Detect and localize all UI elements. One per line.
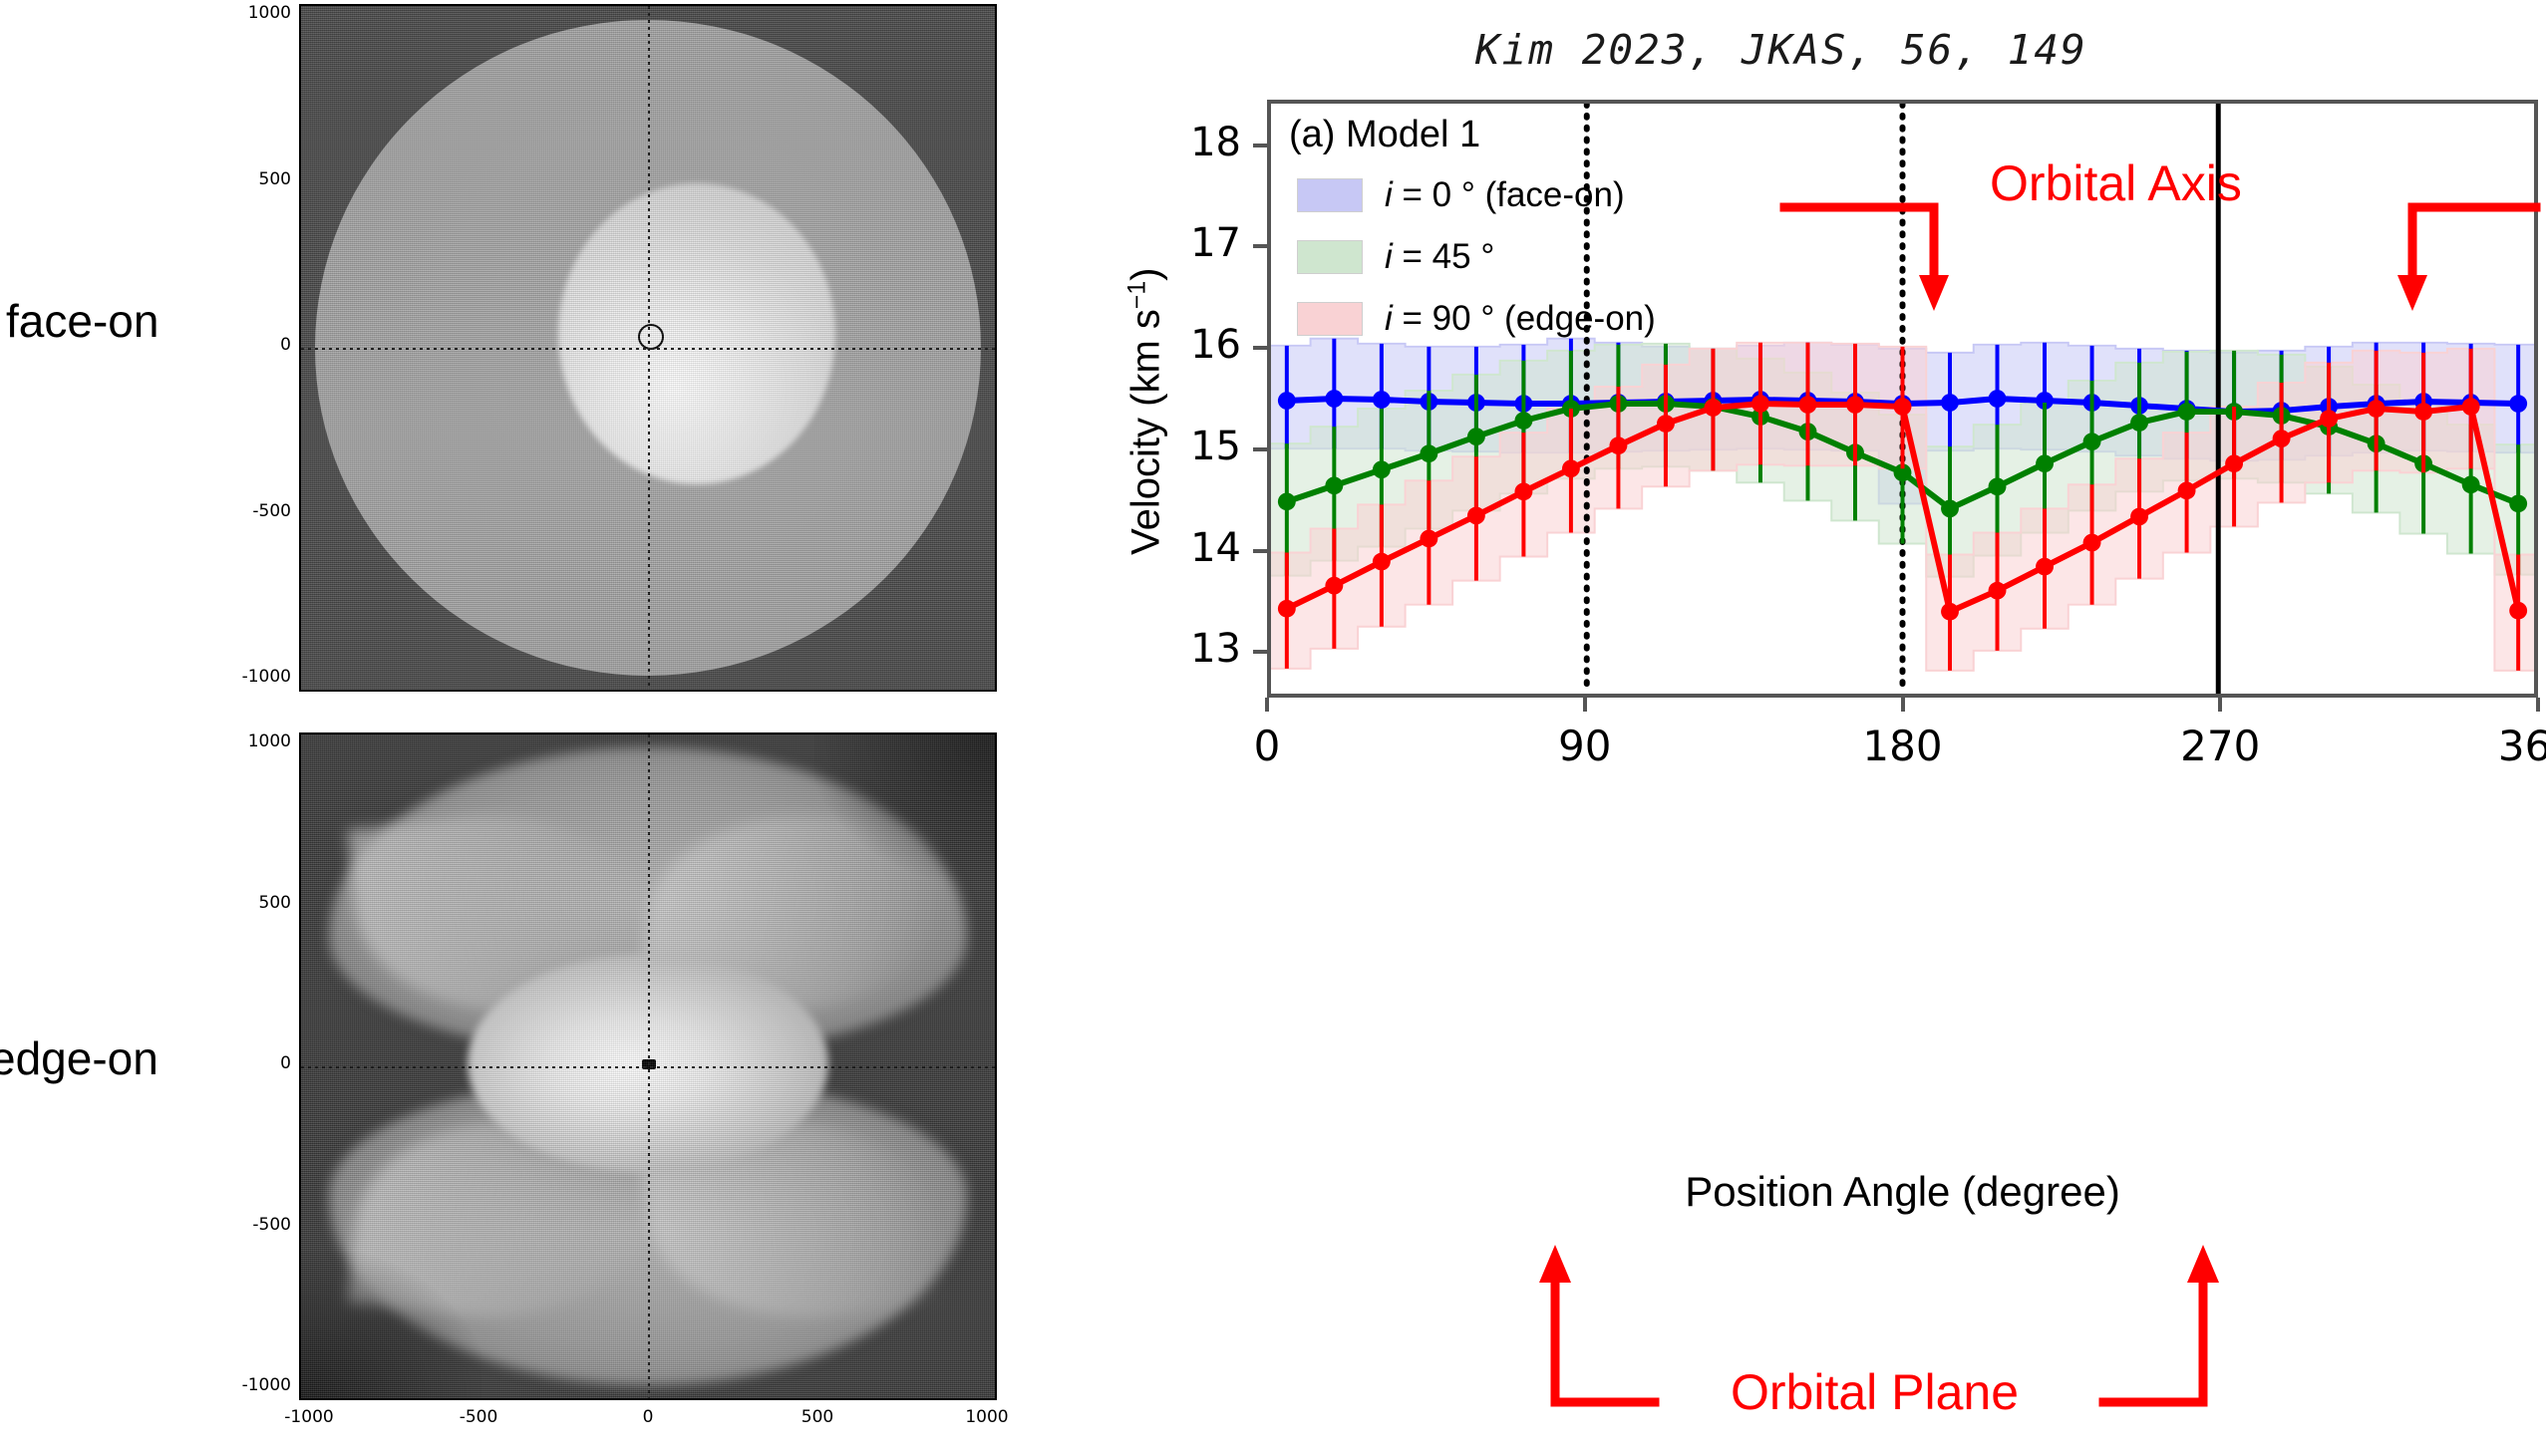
velocity-plot: (a) Model 1 i = 0 ° (face-on) i = 45 ° i… [1267, 100, 2538, 698]
data-point [1941, 394, 1959, 412]
data-point [1420, 530, 1437, 548]
data-point [1941, 499, 1959, 517]
x-tick-mark-0 [1265, 698, 1269, 712]
data-point [2368, 400, 2386, 418]
y-tick-mark-15 [1253, 447, 1267, 451]
data-point [2083, 433, 2101, 450]
map-tick--1000: -1000 [264, 1407, 354, 1427]
legend-swatch-i0 [1297, 178, 1363, 212]
data-point [2509, 494, 2527, 512]
map-tick-1000: 1000 [221, 3, 291, 23]
map-tick--1000: -1000 [221, 667, 291, 687]
data-point [2130, 508, 2148, 526]
y-axis-label-wrap: Velocity (km s−1) [1097, 100, 1156, 698]
x-tick-180: 180 [1833, 722, 1973, 770]
data-point [1278, 600, 1296, 618]
map-tick-0: 0 [221, 1053, 291, 1073]
data-point [1846, 396, 1864, 414]
data-point [1751, 395, 1769, 413]
legend-item-i45[interactable]: i = 45 ° [1297, 237, 1656, 277]
map-tick--500: -500 [221, 1215, 291, 1235]
data-point [1514, 482, 1532, 500]
x-axis-label: Position Angle (degree) [1267, 1168, 2538, 1216]
data-point [1894, 398, 1912, 416]
figure-citation: Kim 2023, JKAS, 56, 149 [1475, 26, 2087, 74]
x-tick-360: 360 [2468, 722, 2546, 770]
x-tick-90: 90 [1515, 722, 1655, 770]
x-tick-0: 0 [1197, 722, 1337, 770]
map-tick-500: 500 [221, 893, 291, 913]
face-on-noise-texture [301, 6, 995, 690]
data-point [2462, 475, 2480, 493]
legend-label-i90: i = 90 ° (edge-on) [1385, 299, 1656, 339]
data-point [1989, 390, 2007, 408]
data-point [1278, 492, 1296, 510]
y-tick-mark-18 [1253, 144, 1267, 147]
data-point [2036, 454, 2054, 472]
y-tick-13: 13 [1151, 626, 1241, 672]
panel-label-edge-on: edge-on [0, 1031, 159, 1085]
legend: i = 0 ° (face-on) i = 45 ° i = 90 ° (edg… [1297, 175, 1656, 339]
data-point [2320, 410, 2338, 428]
y-tick-14: 14 [1151, 525, 1241, 571]
y-tick-mark-16 [1253, 346, 1267, 350]
y-tick-16: 16 [1151, 322, 1241, 368]
data-point [1705, 399, 1723, 417]
data-point [1989, 477, 2007, 495]
data-point [1420, 444, 1437, 462]
y-tick-17: 17 [1151, 220, 1241, 266]
data-point [2083, 534, 2101, 552]
data-point [1467, 507, 1485, 525]
data-point [1609, 437, 1627, 454]
orbital-axis-label: Orbital Axis [1990, 154, 2242, 212]
map-tick-500: 500 [773, 1407, 862, 1427]
face-on-density-map [299, 4, 997, 692]
legend-label-i0: i = 0 ° (face-on) [1385, 175, 1625, 215]
data-point [1373, 460, 1391, 478]
data-point [2225, 454, 2243, 472]
data-point [2509, 602, 2527, 620]
y-tick-mark-13 [1253, 650, 1267, 654]
legend-swatch-i45 [1297, 240, 1363, 274]
legend-label-i45: i = 45 ° [1385, 237, 1494, 277]
y-tick-mark-17 [1253, 244, 1267, 248]
legend-item-i90[interactable]: i = 90 ° (edge-on) [1297, 299, 1656, 339]
x-tick-270: 270 [2150, 722, 2290, 770]
data-point [1514, 412, 1532, 430]
data-point [1278, 392, 1296, 410]
data-point [1941, 603, 1959, 621]
panel-tag: (a) Model 1 [1289, 114, 1480, 156]
x-tick-mark-360 [2536, 698, 2540, 712]
figure-canvas: face-on edge-on 10005000-500-10001000500… [0, 0, 2546, 1456]
orbital-plane-arrows [1525, 1241, 2546, 1456]
map-tick--500: -500 [434, 1407, 523, 1427]
data-point [2462, 398, 2480, 416]
map-tick-0: 0 [221, 335, 291, 355]
data-point [1467, 428, 1485, 445]
map-tick-0: 0 [603, 1407, 693, 1427]
data-point [1799, 396, 1817, 414]
map-tick-1000: 1000 [221, 731, 291, 751]
legend-swatch-i90 [1297, 302, 1363, 336]
map-tick--1000: -1000 [221, 1375, 291, 1395]
map-tick-500: 500 [221, 169, 291, 189]
data-point [1373, 391, 1391, 409]
map-tick-1000: 1000 [942, 1407, 1032, 1427]
data-point [2509, 395, 2527, 413]
data-point [1325, 577, 1343, 595]
y-tick-15: 15 [1151, 424, 1241, 469]
data-point [1325, 476, 1343, 494]
x-tick-mark-90 [1583, 698, 1587, 712]
edge-on-noise-texture [301, 734, 995, 1398]
data-point [2273, 430, 2291, 447]
data-point [2178, 481, 2196, 499]
y-tick-mark-14 [1253, 549, 1267, 553]
panel-label-face-on: face-on [6, 294, 159, 348]
data-point [1373, 553, 1391, 571]
x-tick-mark-180 [1901, 698, 1905, 712]
edge-on-density-map [299, 732, 997, 1400]
data-point [1325, 390, 1343, 408]
data-point [2414, 403, 2432, 421]
data-point [2178, 403, 2196, 421]
orbital-plane-label: Orbital Plane [1731, 1363, 2019, 1421]
data-point [2130, 414, 2148, 432]
map-tick--500: -500 [221, 501, 291, 521]
legend-item-i0[interactable]: i = 0 ° (face-on) [1297, 175, 1656, 215]
x-tick-mark-270 [2218, 698, 2222, 712]
data-point [1562, 459, 1580, 477]
data-point [1989, 582, 2007, 600]
y-tick-18: 18 [1151, 120, 1241, 165]
data-point [1657, 415, 1675, 433]
data-point [2036, 558, 2054, 576]
